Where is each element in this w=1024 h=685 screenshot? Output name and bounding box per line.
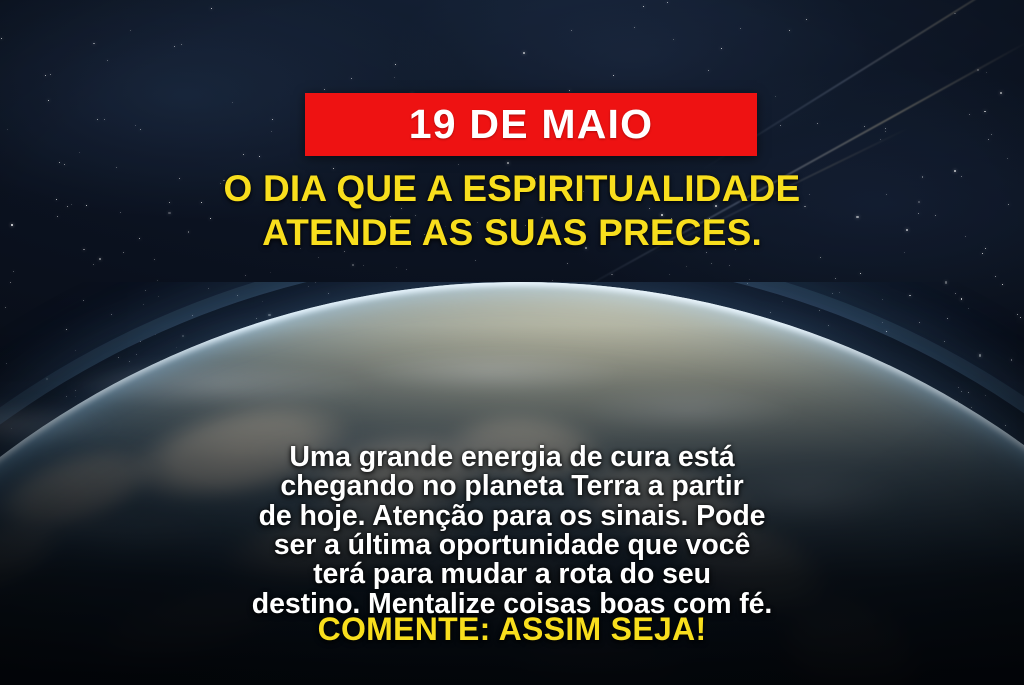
body-copy-line-3: de hoje. Atenção para os sinais. Pode	[48, 502, 976, 531]
call-to-action: COMENTE: ASSIM SEJA!	[0, 612, 1024, 647]
body-copy-line-2: chegando no planeta Terra a partir	[48, 472, 976, 501]
body-copy-line-5: terá para mudar a rota do seu	[48, 560, 976, 589]
body-copy-line-4: ser a última oportunidade que você	[48, 531, 976, 560]
poster-content: 19 DE MAIO O DIA QUE A ESPIRITUALIDADE A…	[0, 0, 1024, 685]
date-banner-text: 19 DE MAIO	[409, 104, 653, 145]
body-copy: Uma grande energia de cura está chegando…	[0, 443, 1024, 619]
date-banner: 19 DE MAIO	[305, 93, 757, 156]
headline: O DIA QUE A ESPIRITUALIDADE ATENDE AS SU…	[0, 167, 1024, 254]
headline-line-2: ATENDE AS SUAS PRECES.	[40, 211, 984, 255]
poster-image: 19 DE MAIO O DIA QUE A ESPIRITUALIDADE A…	[0, 0, 1024, 685]
body-copy-line-1: Uma grande energia de cura está	[48, 443, 976, 472]
call-to-action-text: COMENTE: ASSIM SEJA!	[318, 611, 707, 647]
headline-line-1: O DIA QUE A ESPIRITUALIDADE	[40, 167, 984, 211]
